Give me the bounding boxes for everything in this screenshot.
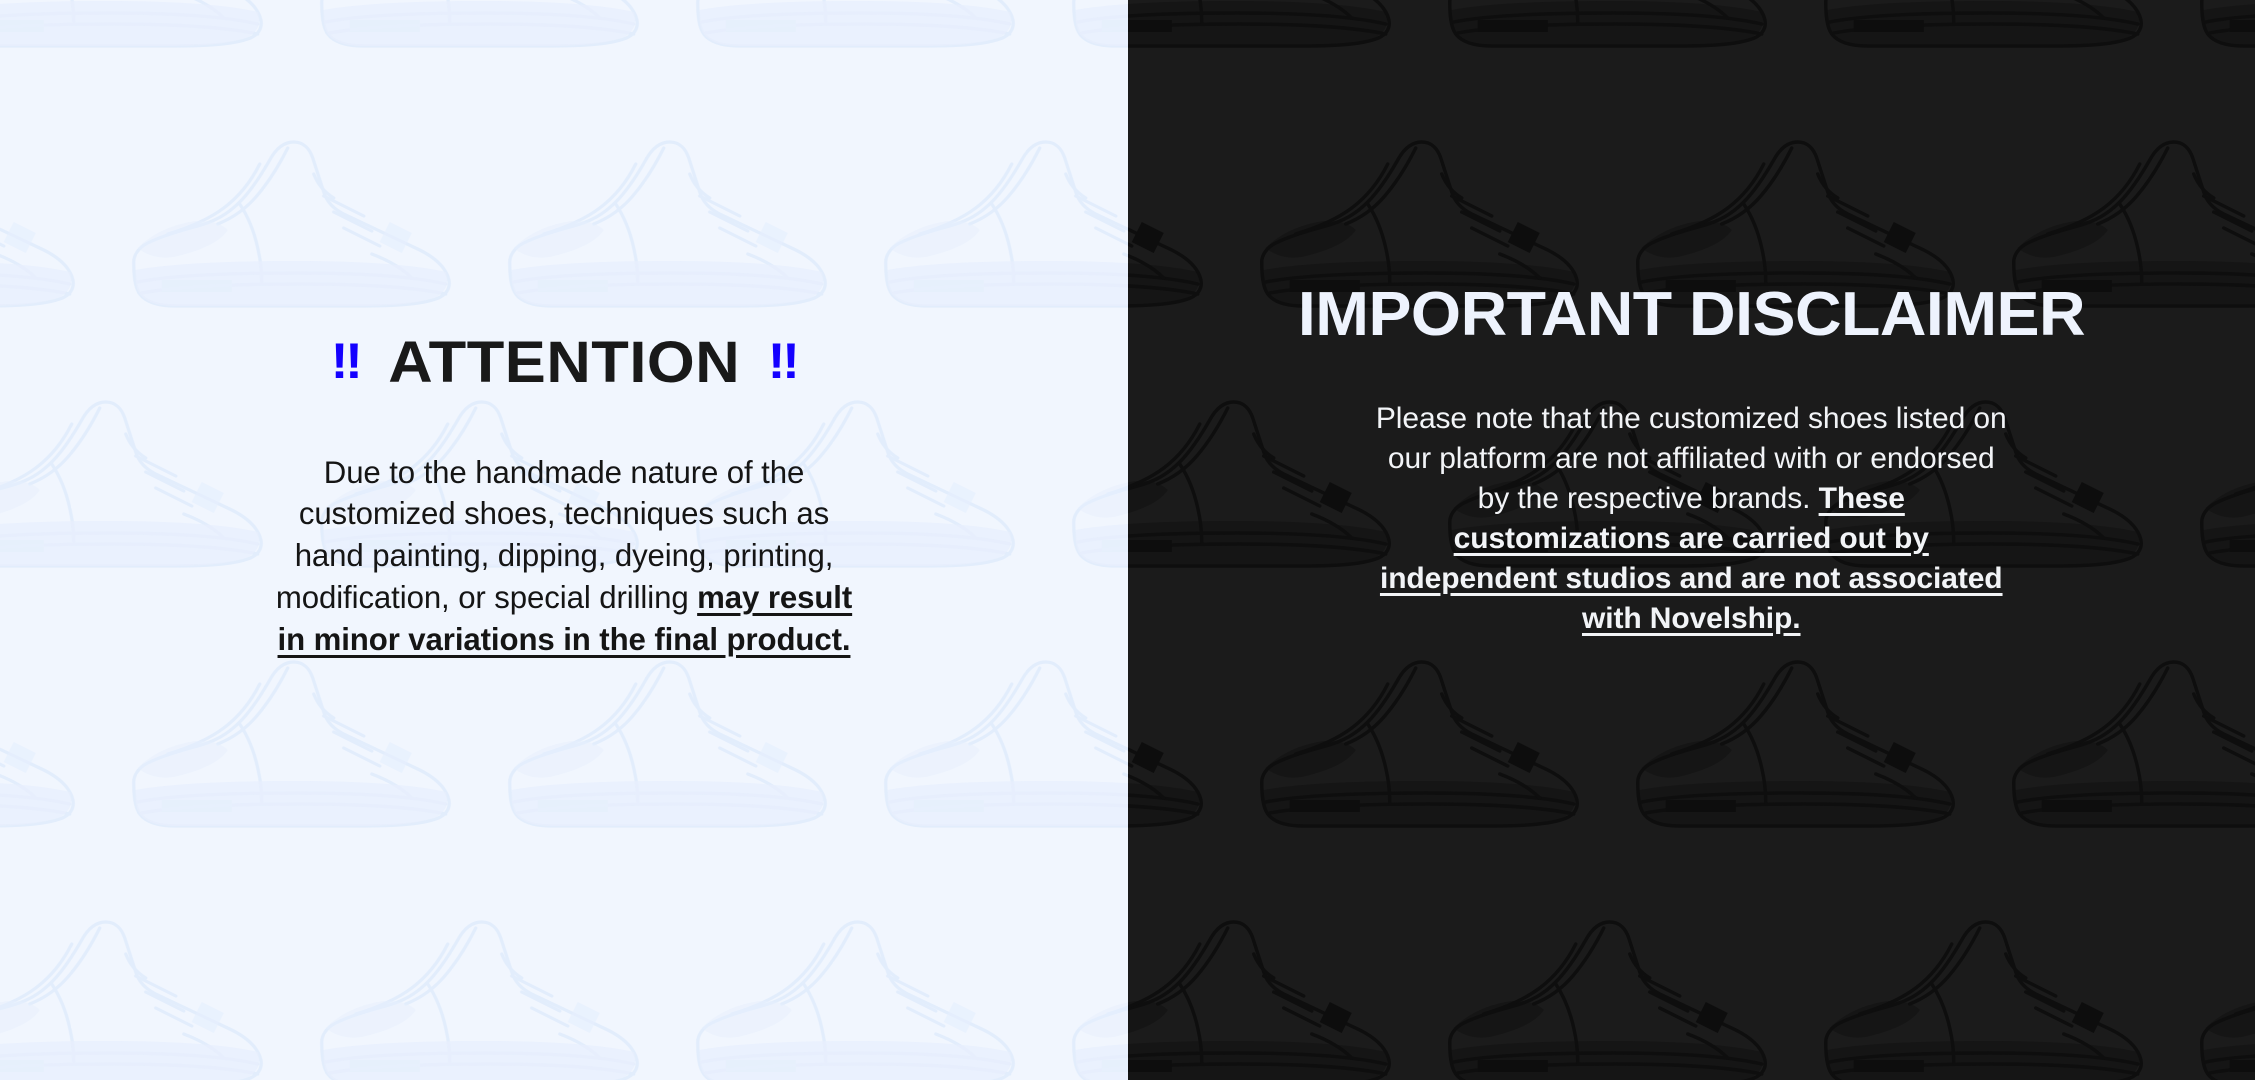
attention-content: ‼ ATTENTION ‼ Due to the handmade nature…: [0, 0, 1128, 692]
attention-panel: ‼ ATTENTION ‼ Due to the handmade nature…: [0, 0, 1128, 1080]
disclaimer-content: IMPORTANT DISCLAIMER Please note that th…: [1128, 0, 2255, 668]
disclaimer-body: Please note that the customized shoes li…: [1371, 399, 2011, 638]
attention-body: Due to the handmade nature of the custom…: [267, 452, 861, 661]
disclaimer-banner: ‼ ATTENTION ‼ Due to the handmade nature…: [0, 0, 2255, 1080]
attention-heading: ‼ ATTENTION ‼: [330, 334, 797, 392]
double-exclamation-right-icon: ‼: [767, 336, 797, 386]
disclaimer-body-text: Please note that the customized shoes li…: [1376, 402, 2007, 515]
attention-heading-label: ATTENTION: [388, 334, 740, 392]
disclaimer-heading: IMPORTANT DISCLAIMER: [1298, 282, 2085, 347]
double-exclamation-left-icon: ‼: [330, 336, 360, 386]
disclaimer-panel: IMPORTANT DISCLAIMER Please note that th…: [1128, 0, 2255, 1080]
